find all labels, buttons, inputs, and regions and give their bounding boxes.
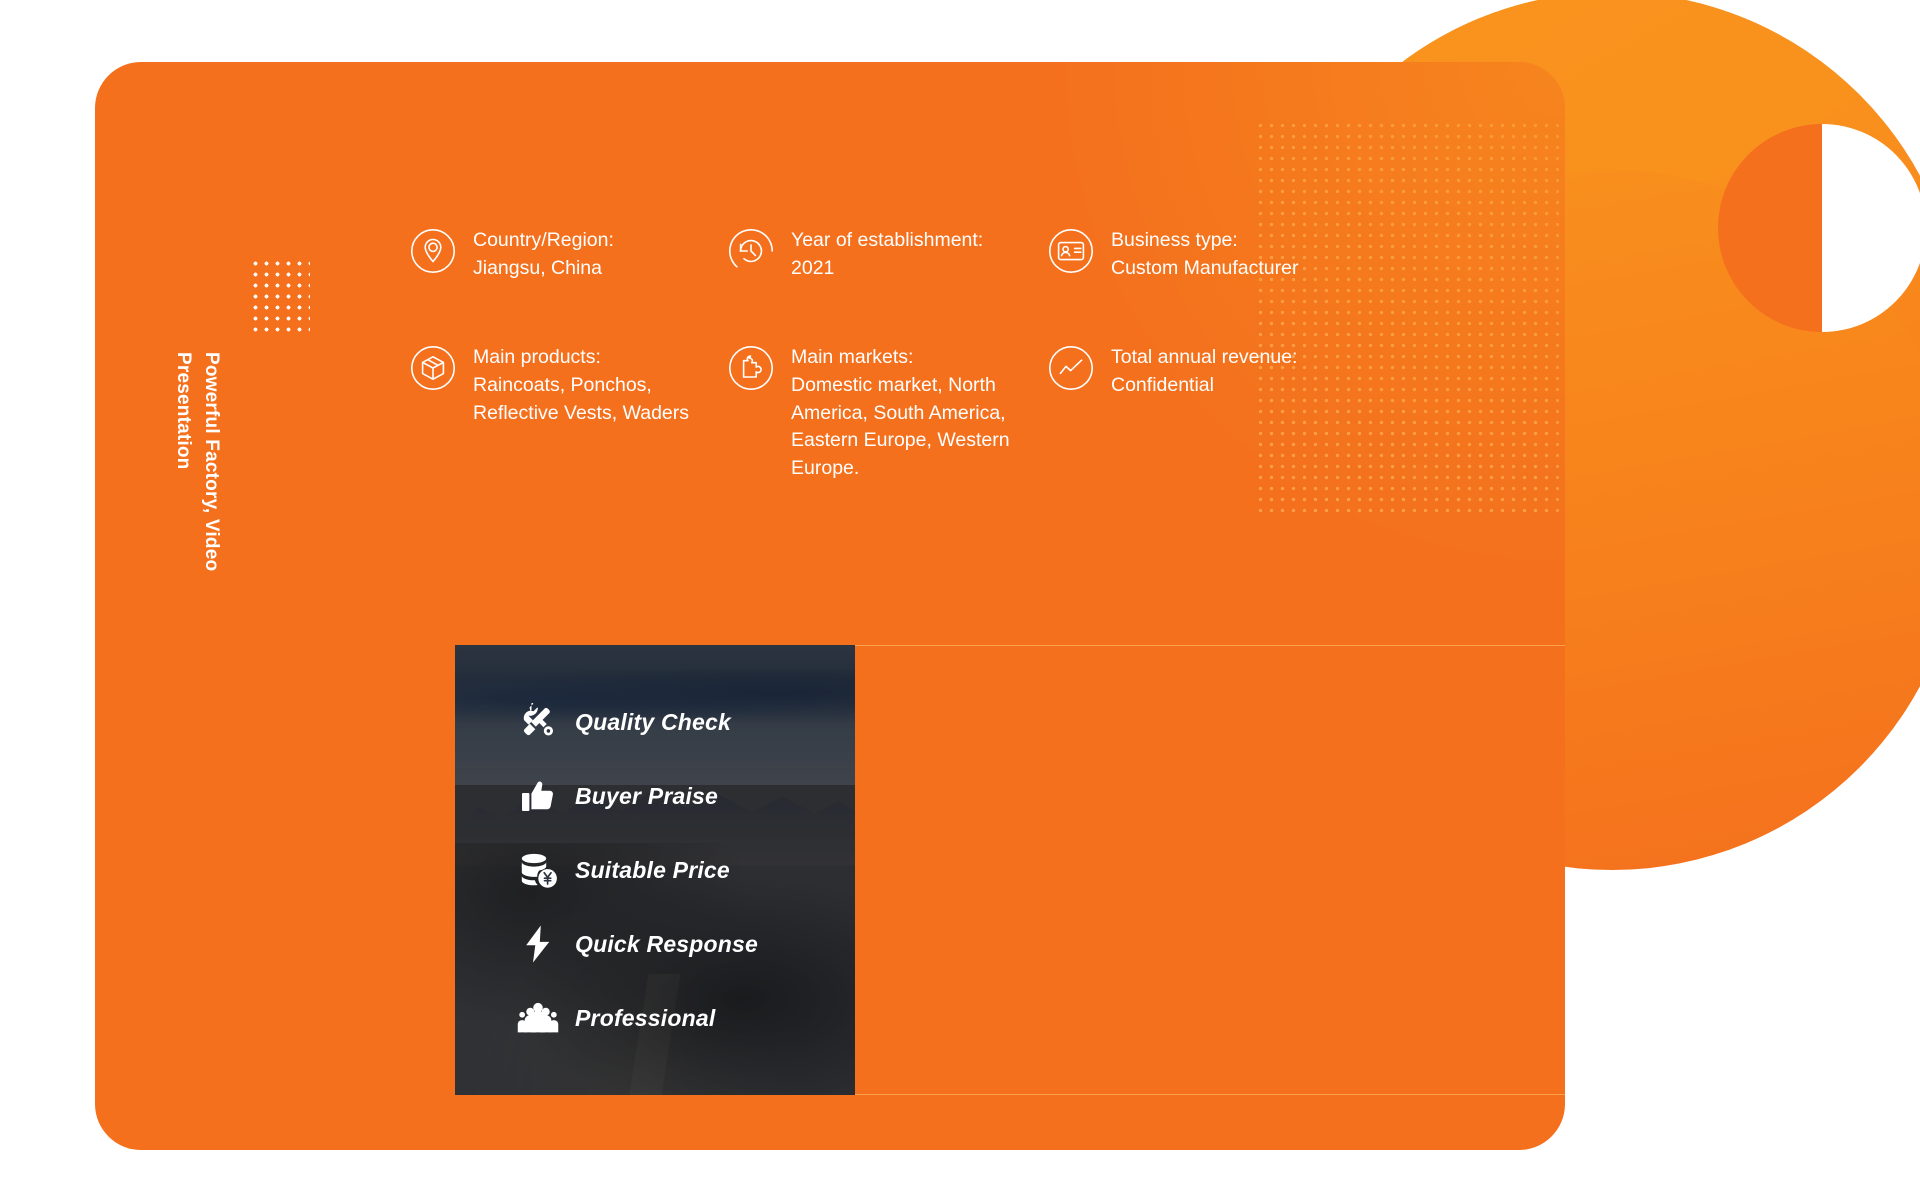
feature-item-quality-check: Quality Check [517, 694, 855, 750]
thumbs-up-icon [517, 775, 559, 817]
info-text-main-markets: Main markets: Domestic market, North Ame… [791, 344, 1048, 482]
vertical-section-title: Powerful Factory, Video Presentation [170, 352, 225, 612]
lightning-bolt-icon [517, 923, 559, 965]
clock-history-icon [728, 228, 774, 274]
info-value: Raincoats, Ponchos, Reflective Vests, Wa… [473, 372, 728, 427]
people-group-icon [517, 997, 559, 1039]
info-value: Custom Manufacturer [1111, 255, 1299, 283]
video-thumbnail[interactable]: Quality Check Buyer Praise [455, 645, 855, 1095]
feature-label: Professional [575, 1005, 715, 1032]
info-text-country-region: Country/Region: Jiangsu, China [473, 227, 614, 282]
info-item-year-established: Year of establishment: 2021 [728, 227, 1048, 282]
tools-wrench-screwdriver-icon [517, 701, 559, 743]
info-label: Country/Region: [473, 227, 614, 255]
feature-list: Quality Check Buyer Praise [455, 645, 855, 1095]
info-label: Main products: [473, 344, 728, 372]
feature-item-quick-response: Quick Response [517, 916, 855, 972]
presentation-slide: Powerful Factory, Video Presentation Cou… [0, 0, 1920, 1188]
info-value: 2021 [791, 255, 983, 283]
info-text-main-products: Main products: Raincoats, Ponchos, Refle… [473, 344, 728, 427]
info-text-business-type: Business type: Custom Manufacturer [1111, 227, 1299, 282]
dot-grid-decor [250, 258, 310, 336]
info-label: Total annual revenue: [1111, 344, 1297, 372]
split-circle-decor [1718, 124, 1920, 332]
feature-label: Quick Response [575, 931, 758, 958]
company-info-grid: Country/Region: Jiangsu, China Year of e… [410, 227, 1565, 483]
info-text-annual-revenue: Total annual revenue: Confidential [1111, 344, 1297, 399]
id-card-icon [1048, 228, 1094, 274]
info-item-country-region: Country/Region: Jiangsu, China [410, 227, 728, 282]
info-item-main-markets: Main markets: Domestic market, North Ame… [728, 344, 1048, 482]
info-item-business-type: Business type: Custom Manufacturer [1048, 227, 1565, 282]
info-value: Domestic market, North America, South Am… [791, 372, 1048, 483]
feature-item-professional: Professional [517, 990, 855, 1046]
info-value: Jiangsu, China [473, 255, 614, 283]
info-label: Year of establishment: [791, 227, 983, 255]
coins-yen-icon [517, 849, 559, 891]
info-label: Main markets: [791, 344, 1048, 372]
info-text-year-established: Year of establishment: 2021 [791, 227, 983, 282]
info-label: Business type: [1111, 227, 1299, 255]
feature-label: Buyer Praise [575, 783, 718, 810]
info-value: Confidential [1111, 372, 1297, 400]
info-item-main-products: Main products: Raincoats, Ponchos, Refle… [410, 344, 728, 482]
main-card: Powerful Factory, Video Presentation Cou… [95, 62, 1565, 1150]
feature-label: Suitable Price [575, 857, 730, 884]
trend-chart-icon [1048, 345, 1094, 391]
feature-item-suitable-price: Suitable Price [517, 842, 855, 898]
location-pin-icon [410, 228, 456, 274]
info-item-annual-revenue: Total annual revenue: Confidential [1048, 344, 1565, 482]
puzzle-piece-icon [728, 345, 774, 391]
feature-label: Quality Check [575, 709, 731, 736]
package-box-icon [410, 345, 456, 391]
feature-item-buyer-praise: Buyer Praise [517, 768, 855, 824]
